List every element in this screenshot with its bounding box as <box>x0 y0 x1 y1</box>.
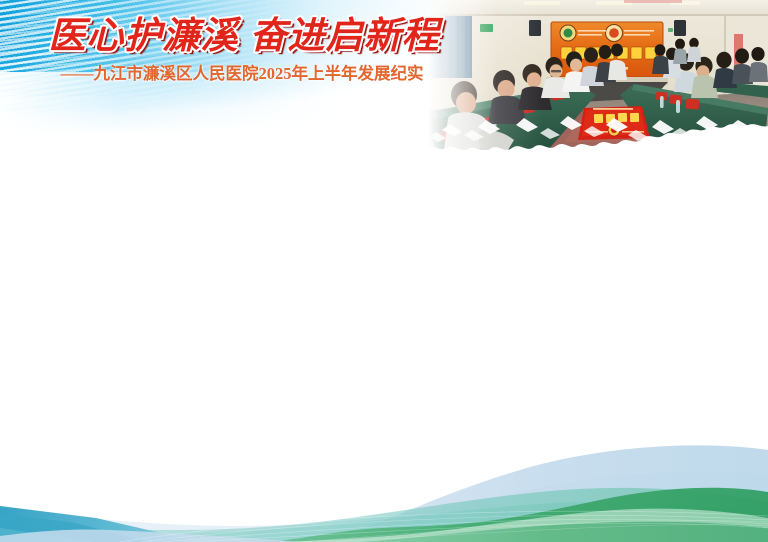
page-subtitle: ——九江市濂溪区人民医院2025年上半年发展纪实 <box>0 63 470 85</box>
footer-wave-decoration <box>0 422 768 542</box>
article-body-area <box>0 160 768 460</box>
title-block: 医心护濂溪 奋进启新程 ——九江市濂溪区人民医院2025年上半年发展纪实 <box>0 14 470 85</box>
page-title: 医心护濂溪 奋进启新程 <box>0 14 470 58</box>
conference-photo <box>428 0 768 150</box>
conference-photo-illustration <box>428 0 768 150</box>
wave-ribbons-icon <box>0 422 768 542</box>
poster-page: 医心护濂溪 奋进启新程 ——九江市濂溪区人民医院2025年上半年发展纪实 <box>0 0 768 542</box>
header-band: 医心护濂溪 奋进启新程 ——九江市濂溪区人民医院2025年上半年发展纪实 <box>0 0 768 160</box>
